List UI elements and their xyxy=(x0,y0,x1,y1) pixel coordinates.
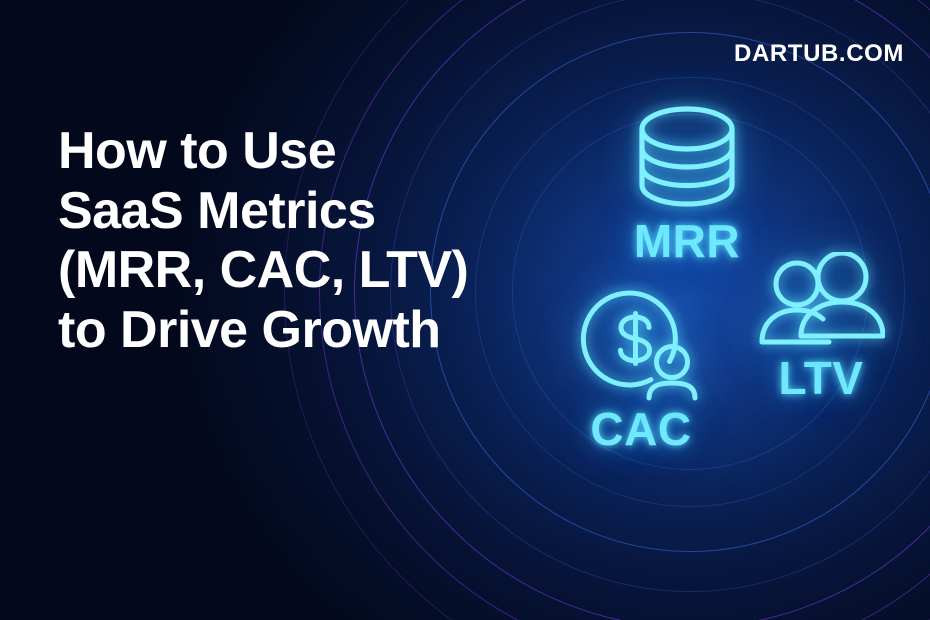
metric-cac: CAC xyxy=(575,285,707,452)
metric-cac-label: CAC xyxy=(590,406,691,452)
title-line-3: (MRR, CAC, LTV) xyxy=(58,241,528,301)
metric-ltv-label: LTV xyxy=(779,355,864,401)
brand-watermark: DARTUB.COM xyxy=(734,40,904,68)
title-line-4: to Drive Growth xyxy=(58,301,528,361)
title-line-1: How to Use xyxy=(58,122,528,182)
hero-graphic: DARTUB.COM How to Use SaaS Metrics (MRR,… xyxy=(0,0,930,620)
metric-mrr: MRR xyxy=(628,103,746,264)
database-cylinder-icon xyxy=(628,103,746,216)
metric-mrr-label: MRR xyxy=(634,218,740,264)
two-people-icon xyxy=(757,252,885,361)
metric-ltv: LTV xyxy=(757,252,885,401)
dollar-circle-person-icon xyxy=(575,285,707,410)
title-line-2: SaaS Metrics xyxy=(58,182,528,242)
page-title: How to Use SaaS Metrics (MRR, CAC, LTV) … xyxy=(58,122,528,360)
